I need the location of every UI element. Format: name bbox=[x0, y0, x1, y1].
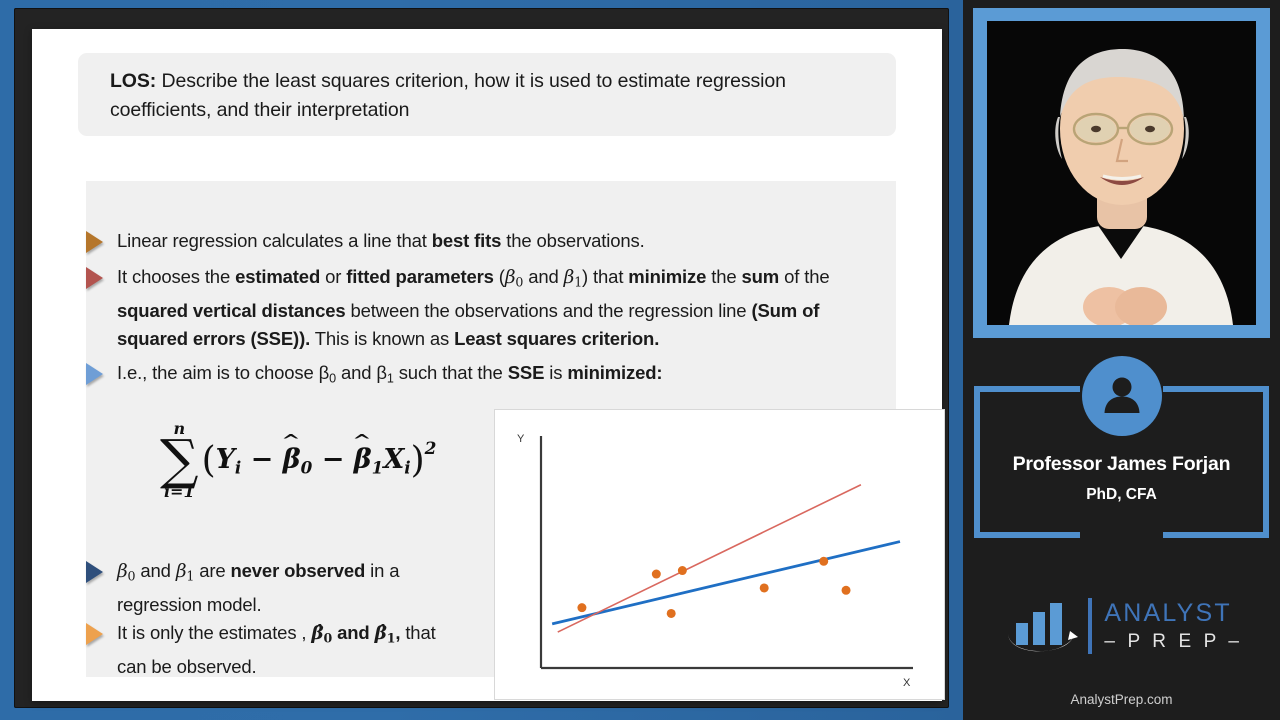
bullet-item-1: Linear regression calculates a line that… bbox=[86, 227, 876, 255]
formula-open-paren: ( bbox=[202, 440, 216, 481]
bullet-arrow-icon-5 bbox=[86, 623, 103, 645]
slide-video-area[interactable]: LOS: Describe the least squares criterio… bbox=[0, 0, 963, 720]
formula-minus-1: − bbox=[251, 444, 274, 475]
screen-root: LOS: Describe the least squares criterio… bbox=[0, 0, 1280, 720]
chart-line-alternative-line-red bbox=[558, 485, 861, 632]
presenter-panel: Professor James Forjan PhD, CFA ANALYS bbox=[963, 0, 1280, 720]
chart-point-5 bbox=[760, 583, 769, 592]
formula-y-sub: i bbox=[235, 458, 241, 478]
presenter-portrait-image bbox=[987, 21, 1256, 325]
formula-y: Y bbox=[216, 444, 235, 475]
chart-point-2 bbox=[652, 570, 661, 579]
los-prefix: LOS: bbox=[110, 70, 156, 92]
formula-x: X bbox=[383, 444, 404, 475]
slide-canvas: LOS: Describe the least squares criterio… bbox=[32, 29, 942, 701]
los-text: LOS: Describe the least squares criterio… bbox=[110, 67, 870, 125]
logo-prep-text: – P R E P – bbox=[1104, 632, 1242, 651]
chart-point-4 bbox=[667, 609, 676, 618]
regression-scatter-chart: Y X bbox=[494, 409, 945, 700]
bullet-arrow-icon-4 bbox=[86, 561, 103, 583]
presenter-nameplate: Professor James Forjan PhD, CFA bbox=[973, 348, 1270, 563]
presenter-name: Professor James Forjan bbox=[973, 453, 1270, 476]
sum-lower-limit: i=1 bbox=[164, 484, 195, 500]
person-avatar-icon bbox=[1097, 371, 1147, 421]
analystprep-mark-icon bbox=[1000, 595, 1086, 657]
chart-y-axis-label: Y bbox=[517, 433, 525, 445]
chart-trend-lines bbox=[552, 485, 900, 632]
bullet-item-2: It chooses the estimated or fitted param… bbox=[86, 263, 876, 353]
bullet-text-1: Linear regression calculates a line that… bbox=[117, 227, 645, 255]
chart-point-1 bbox=[577, 603, 586, 612]
website-url: AnalystPrep.com bbox=[963, 692, 1280, 707]
formula-beta0: β bbox=[283, 444, 301, 475]
chart-point-7 bbox=[842, 586, 851, 595]
webcam-video[interactable] bbox=[987, 21, 1256, 325]
formula-minus-2: − bbox=[322, 444, 345, 475]
formula-beta1-sub: 1 bbox=[372, 458, 384, 478]
sigma-glyph-icon: ∑ bbox=[160, 435, 199, 485]
chart-point-6 bbox=[819, 557, 828, 566]
webcam-frame[interactable] bbox=[973, 8, 1270, 338]
formula-close-paren: ) bbox=[411, 440, 425, 481]
bullet-text-5: It is only the estimates , β̂0 and β̂1, … bbox=[117, 619, 457, 681]
chart-line-fitted-line-blue bbox=[552, 542, 900, 624]
sse-formula: n ∑ i=1 (Yi − β0 − β1Xi)2 bbox=[160, 421, 437, 500]
bullet-text-2: It chooses the estimated or fitted param… bbox=[117, 263, 876, 353]
bullet-arrow-icon-1 bbox=[86, 231, 103, 253]
los-body: Describe the least squares criterion, ho… bbox=[110, 70, 786, 121]
bullet-arrow-icon-2 bbox=[86, 267, 103, 289]
formula-beta1: β bbox=[354, 444, 372, 475]
formula-exponent: 2 bbox=[425, 439, 437, 459]
slide-bezel: LOS: Describe the least squares criterio… bbox=[14, 8, 949, 708]
presenter-credentials: PhD, CFA bbox=[973, 486, 1270, 504]
brand-logo[interactable]: ANALYST – P R E P – bbox=[963, 595, 1280, 665]
chart-point-3 bbox=[678, 566, 687, 575]
formula-body: (Yi − β0 − β1Xi)2 bbox=[202, 439, 437, 481]
chart-svg: Y X bbox=[495, 410, 942, 697]
bullet-text-4: β0 and β1 are never observed in a regres… bbox=[117, 557, 447, 619]
bullet-item-5: It is only the estimates , β̂0 and β̂1, … bbox=[86, 619, 476, 681]
bullet-text-3: I.e., the aim is to choose β0 and β1 suc… bbox=[117, 359, 662, 393]
chart-x-axis-label: X bbox=[903, 677, 911, 689]
los-box: LOS: Describe the least squares criterio… bbox=[78, 53, 896, 136]
formula-beta0-sub: 0 bbox=[301, 458, 313, 478]
bullet-arrow-icon-3 bbox=[86, 363, 103, 385]
logo-analyst-text: ANALYST bbox=[1104, 601, 1242, 626]
avatar bbox=[1082, 356, 1162, 436]
logo-divider bbox=[1088, 598, 1092, 654]
summation-symbol: n ∑ i=1 bbox=[160, 421, 199, 500]
bullet-item-3: I.e., the aim is to choose β0 and β1 suc… bbox=[86, 359, 876, 393]
bullet-item-4: β0 and β1 are never observed in a regres… bbox=[86, 557, 476, 619]
